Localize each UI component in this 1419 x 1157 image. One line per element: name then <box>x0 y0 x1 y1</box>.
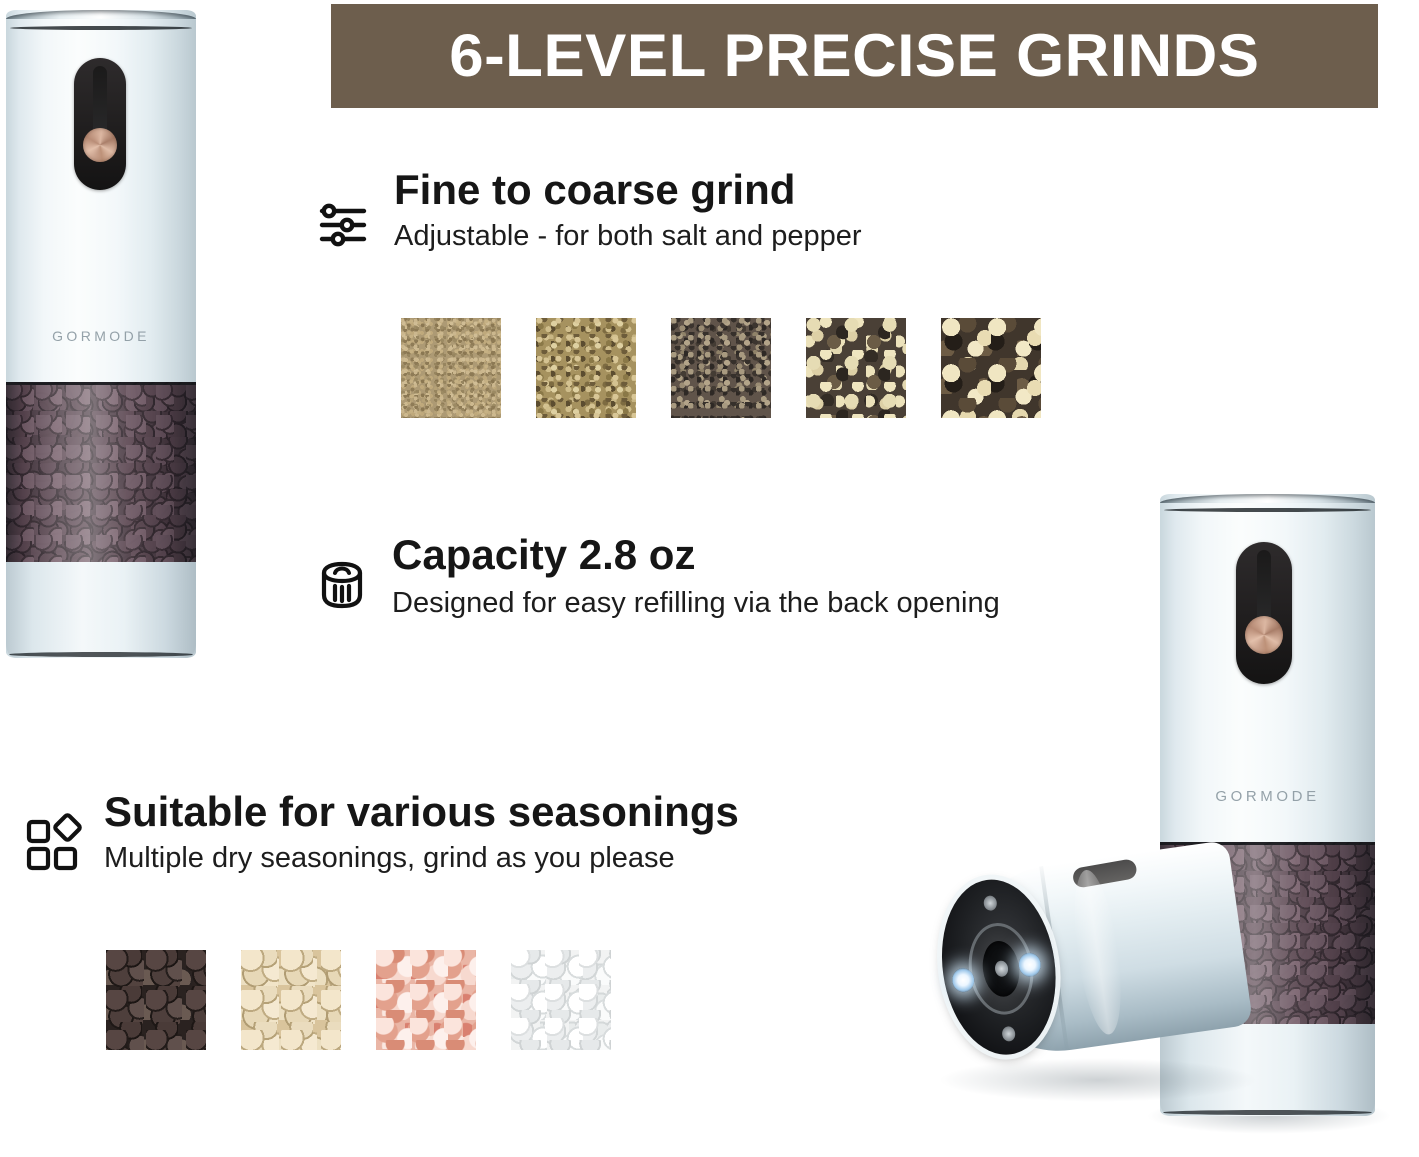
body-highlight <box>1066 867 1129 1037</box>
pink-himalayan-salt <box>376 950 476 1050</box>
seasoning-swatch-row <box>106 950 611 1050</box>
grinder-base-seam <box>1162 1110 1373 1115</box>
grind-level-swatch-row <box>401 318 1041 418</box>
grinder-top-rim <box>1160 494 1375 503</box>
power-button[interactable] <box>1236 542 1292 684</box>
grinder-base <box>6 562 196 658</box>
container-icon <box>316 555 368 611</box>
header-banner: 6-LEVEL PRECISE GRINDS <box>331 4 1378 108</box>
feature-title: Capacity 2.8 oz <box>392 533 1000 577</box>
power-button[interactable] <box>74 58 126 190</box>
grind-level-1-extra-fine <box>401 318 501 418</box>
grinder-top-seam <box>10 26 192 30</box>
grinder-top-seam <box>1164 508 1370 512</box>
glass-highlight <box>6 385 196 563</box>
banner-title: 6-LEVEL PRECISE GRINDS <box>449 26 1259 86</box>
brand-label: GORMODE <box>6 328 196 344</box>
screw-bottom <box>1001 1026 1016 1043</box>
sea-salt <box>511 950 611 1050</box>
feature-title: Suitable for various seasonings <box>104 790 739 834</box>
rose-gold-dial[interactable] <box>1245 616 1283 654</box>
feature-capacity: Capacity 2.8 oz Designed for easy refill… <box>316 533 1000 620</box>
product-grinder-left: GORMODE <box>6 10 196 660</box>
feature-suitable-seasonings: Suitable for various seasonings Multiple… <box>24 790 739 875</box>
grind-level-5-extra-coarse <box>941 318 1041 418</box>
black-peppercorns <box>106 950 206 1050</box>
grind-level-2-fine <box>536 318 636 418</box>
grinder-top-rim <box>6 10 196 19</box>
feature-subtitle: Multiple dry seasonings, grind as you pl… <box>104 842 739 875</box>
feature-title: Fine to coarse grind <box>394 168 862 212</box>
feature-subtitle: Adjustable - for both salt and pepper <box>394 220 862 253</box>
feature-fine-to-coarse-grind: Fine to coarse grind Adjustable - for bo… <box>316 168 862 253</box>
grind-level-3-medium <box>671 318 771 418</box>
grinder-body: GORMODE <box>6 10 196 658</box>
rose-gold-dial[interactable] <box>83 128 117 162</box>
brand-label: GORMODE <box>1160 788 1375 805</box>
screw-top <box>983 895 998 912</box>
grind-level-4-coarse <box>806 318 906 418</box>
sliders-icon <box>316 198 370 252</box>
grid-shapes-icon <box>24 810 82 872</box>
feature-subtitle: Designed for easy refilling via the back… <box>392 587 1000 620</box>
grinder-chamber-window <box>6 382 196 566</box>
white-peppercorns <box>241 950 341 1050</box>
product-feature-infographic: 6-LEVEL PRECISE GRINDS GORMODE <box>0 0 1419 1157</box>
grinder-base-seam <box>8 652 194 657</box>
